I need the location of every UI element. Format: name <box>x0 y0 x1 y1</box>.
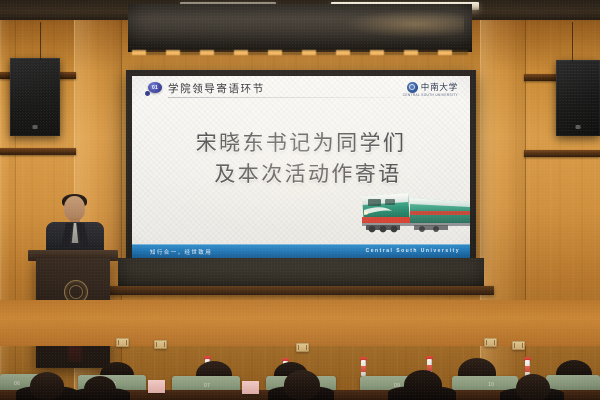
speaker-mesh-right <box>559 63 597 133</box>
locomotive-illustration <box>352 180 470 238</box>
csu-seal-icon <box>407 82 418 93</box>
wall-outlet-5 <box>512 341 525 350</box>
loudspeaker-left <box>10 58 60 136</box>
wall-outlet-3 <box>296 343 309 352</box>
seat-card-1 <box>148 380 165 393</box>
university-logo: 中南大学 <box>407 81 458 93</box>
locomotive-icon <box>352 180 470 238</box>
seat-tag-3: 07 <box>204 383 210 389</box>
wall-outlet-1 <box>116 338 129 347</box>
audience-head-front-5 <box>516 374 550 400</box>
audience-head-front-3 <box>284 370 320 400</box>
audience-head-front-4 <box>404 370 442 400</box>
seat-tag-5: 10 <box>488 382 494 388</box>
loudspeaker-right <box>556 60 600 136</box>
audience-back-wall <box>0 300 600 346</box>
projection-screen-frame: 01 学院领导寄语环节 中南大学 CENTRAL SOUTH UNIVERSIT… <box>126 70 476 266</box>
slide-footer-right-text: Central South University <box>366 248 460 254</box>
wall-outlet-2 <box>154 340 167 349</box>
slide-footer-left-text: 知行合一，经世致用 <box>150 248 212 256</box>
slide-section-label: 学院领导寄语环节 <box>168 81 265 96</box>
speaker-led-left <box>33 125 38 129</box>
slide-section-badge: 01 <box>148 82 162 93</box>
university-name-en: CENTRAL SOUTH UNIVERSITY <box>403 93 458 97</box>
seat-tag-1: 06 <box>14 381 20 387</box>
wall-trim-lower-right <box>524 150 600 157</box>
slide-header-rule <box>168 97 418 98</box>
seat-card-2 <box>242 381 259 394</box>
audience-head-front-2 <box>84 376 116 400</box>
warm-lamp-strip <box>132 50 468 55</box>
stage-ledge <box>108 286 494 295</box>
speaker-wire-left <box>40 22 41 60</box>
speaker-led-right <box>576 125 581 129</box>
university-name: 中南大学 <box>421 81 458 93</box>
auditorium-photo: 01 学院领导寄语环节 中南大学 CENTRAL SOUTH UNIVERSIT… <box>0 0 600 400</box>
wall-trim-lower-left <box>0 148 76 155</box>
speaker-mesh-left <box>13 61 57 133</box>
speaker-wire-right <box>572 22 573 62</box>
screen-valance <box>128 4 472 46</box>
slide-header-dot <box>145 91 150 96</box>
audience-head-front-1 <box>30 372 64 400</box>
wall-outlet-4 <box>484 338 497 347</box>
slide-title-line1: 宋晓东书记为同学们 <box>132 128 470 159</box>
projection-screen: 01 学院领导寄语环节 中南大学 CENTRAL SOUTH UNIVERSIT… <box>132 76 470 260</box>
